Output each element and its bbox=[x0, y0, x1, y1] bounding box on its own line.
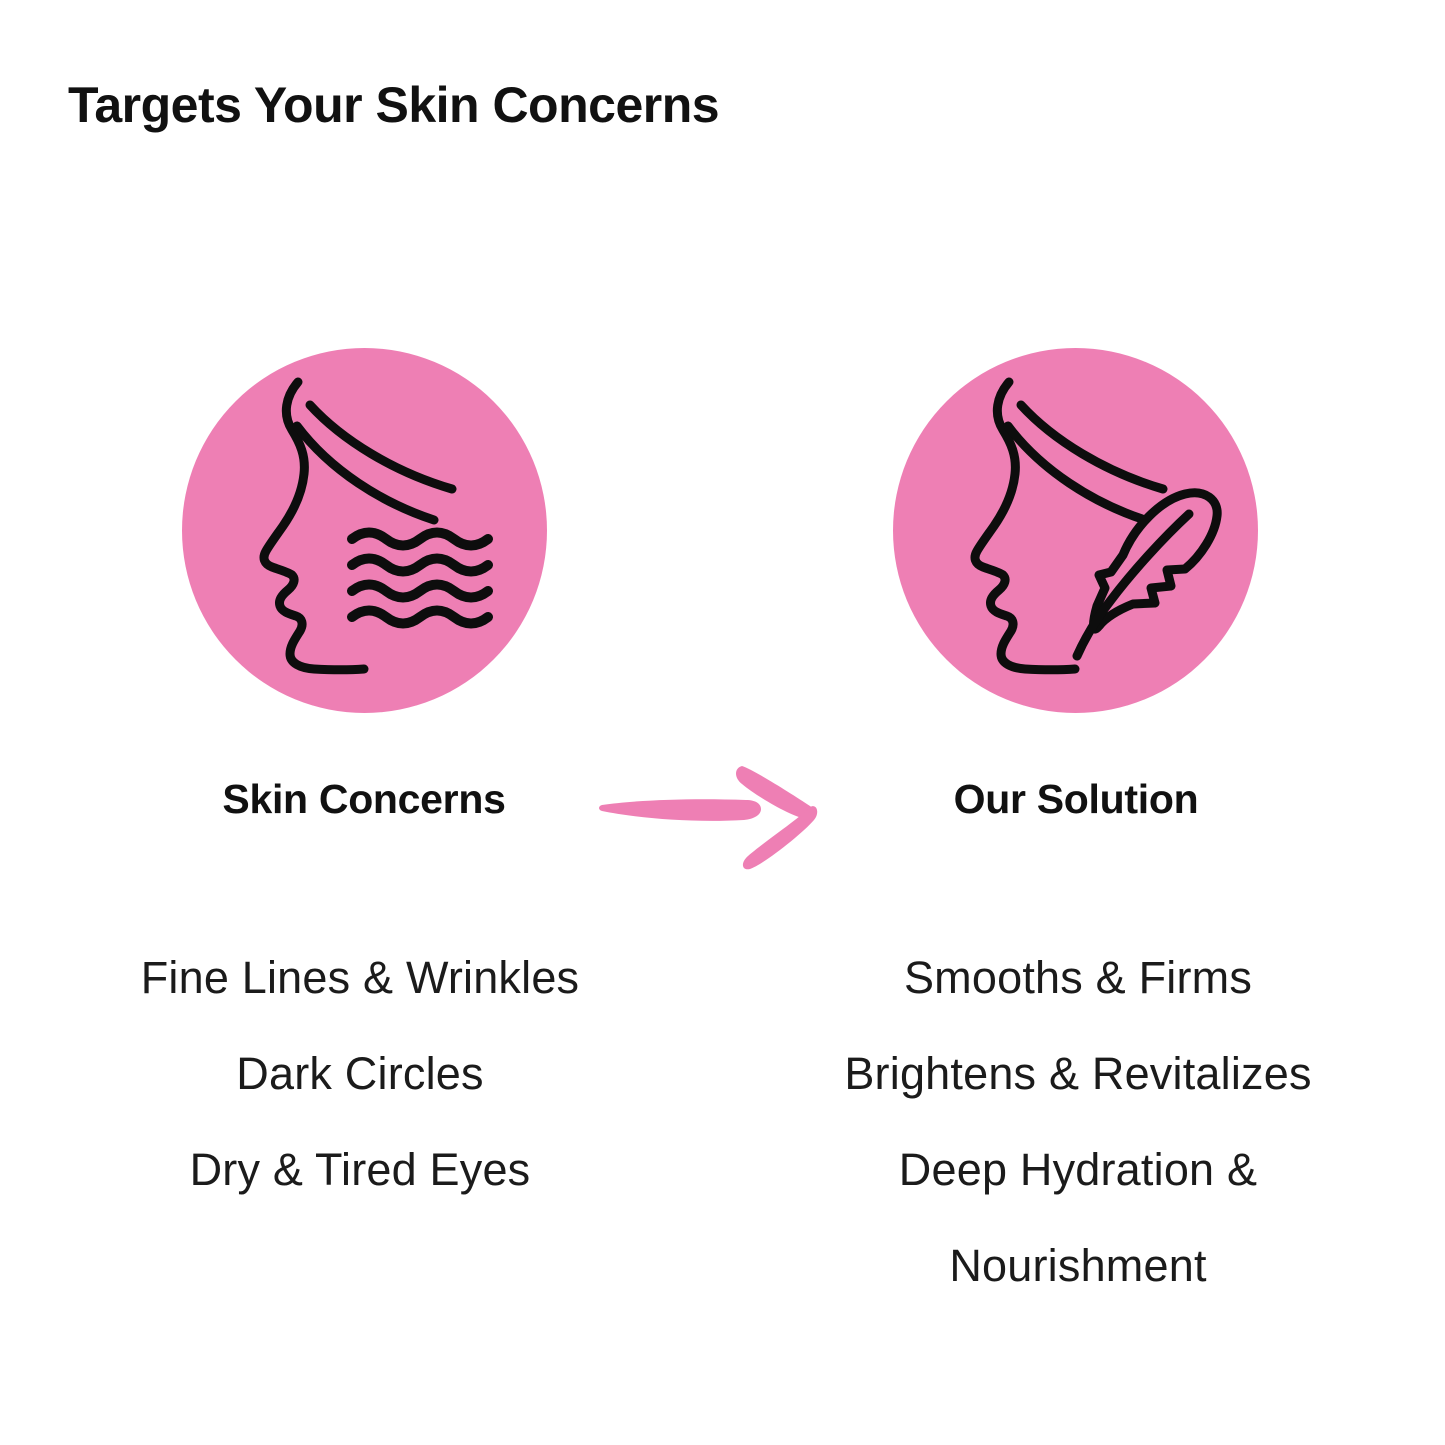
page-title: Targets Your Skin Concerns bbox=[68, 76, 719, 134]
list-item: Fine Lines & Wrinkles bbox=[50, 930, 670, 1026]
our-solution-list: Smooths & Firms Brightens & Revitalizes … bbox=[768, 930, 1388, 1314]
arrow-shaft bbox=[599, 799, 761, 821]
list-item: Dry & Tired Eyes bbox=[50, 1122, 670, 1218]
our-solution-caption: Our Solution bbox=[866, 776, 1286, 823]
list-item: Smooths & Firms bbox=[768, 930, 1388, 1026]
skin-concerns-caption: Skin Concerns bbox=[154, 776, 574, 823]
list-item: Deep Hydration & Nourishment bbox=[768, 1122, 1388, 1314]
right-arrow-icon bbox=[596, 760, 826, 875]
skin-concerns-icon-circle bbox=[182, 348, 547, 713]
list-item: Dark Circles bbox=[50, 1026, 670, 1122]
infographic-page: Targets Your Skin Concerns bbox=[0, 0, 1445, 1445]
face-with-feather-icon bbox=[893, 348, 1258, 713]
list-item: Brightens & Revitalizes bbox=[768, 1026, 1388, 1122]
skin-concerns-list: Fine Lines & Wrinkles Dark Circles Dry &… bbox=[50, 930, 670, 1218]
transition-arrow bbox=[596, 760, 826, 875]
our-solution-icon-circle bbox=[893, 348, 1258, 713]
face-with-wrinkles-icon bbox=[182, 348, 547, 713]
